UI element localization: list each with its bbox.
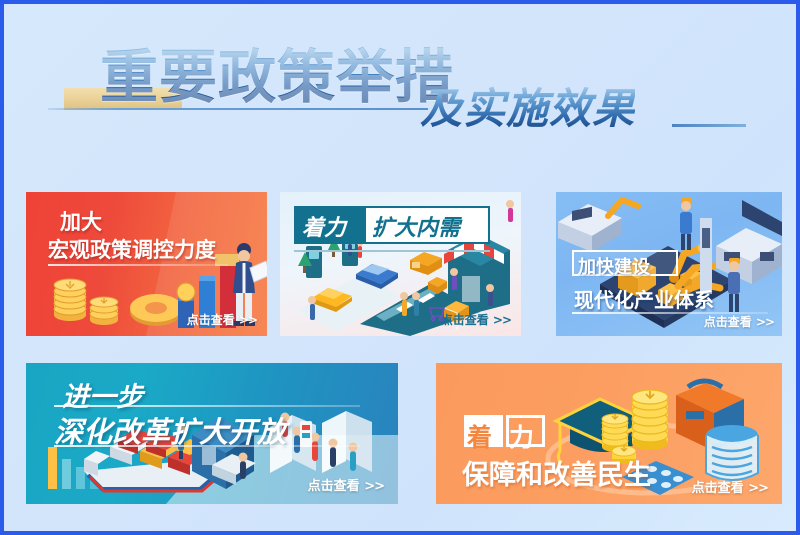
card1-cta-label: 点击查看	[187, 313, 235, 327]
card-expand-domestic-demand[interactable]: 着力 扩大内需 点击查看 >>	[280, 192, 521, 336]
card2-divider	[294, 250, 490, 252]
card4-divider-bottom	[54, 445, 360, 447]
page-title: 重要政策举措	[100, 46, 454, 108]
card-deepen-reform-opening[interactable]: 进一步 深化改革扩大开放 点击查看 >>	[26, 363, 398, 504]
card2-line1: 着力	[302, 210, 346, 242]
card2-line2: 扩大内需	[372, 210, 460, 242]
card4-divider-top	[54, 405, 360, 407]
card5-line1-char1: 着	[467, 418, 492, 454]
card3-line2: 现代化产业体系	[574, 284, 714, 313]
page-header: 重要政策举措 及实施效果	[4, 4, 796, 179]
card4-cta[interactable]: 点击查看 >>	[308, 475, 384, 494]
card5-line1-char2: 力	[509, 418, 534, 454]
page-subtitle: 及实施效果	[420, 86, 635, 132]
card1-cta-arrows-icon: >>	[239, 313, 257, 327]
card4-cta-label: 点击查看	[308, 479, 360, 494]
card1-divider	[48, 264, 228, 266]
card1-cta[interactable]: 点击查看 >>	[187, 311, 257, 328]
card3-cta[interactable]: 点击查看 >>	[704, 313, 774, 330]
card1-line1: 加大	[60, 206, 102, 236]
card-improve-livelihood[interactable]: 着 力 保障和改善民生 点击查看 >>	[436, 363, 782, 504]
card1-line2: 宏观政策调控力度	[48, 234, 216, 264]
card2-cta-arrows-icon: >>	[493, 313, 511, 327]
card2-cta[interactable]: 点击查看 >>	[441, 311, 511, 328]
card5-line2: 保障和改善民生	[462, 453, 651, 492]
card5-cta-arrows-icon: >>	[748, 481, 768, 496]
card3-cta-label: 点击查看	[704, 315, 752, 329]
card4-cta-arrows-icon: >>	[364, 479, 384, 494]
card3-cta-arrows-icon: >>	[756, 315, 774, 329]
card-macro-policy[interactable]: 加大 宏观政策调控力度 点击查看 >>	[26, 192, 267, 336]
card-modern-industrial-system[interactable]: 加快建设 现代化产业体系 点击查看 >>	[556, 192, 782, 336]
card5-cta-label: 点击查看	[692, 481, 744, 496]
card3-line1: 加快建设	[578, 253, 650, 279]
card5-cta[interactable]: 点击查看 >>	[692, 477, 768, 496]
page-root: 重要政策举措 及实施效果	[4, 4, 796, 531]
title-right-rule	[672, 124, 746, 127]
card2-cta-label: 点击查看	[441, 313, 489, 327]
